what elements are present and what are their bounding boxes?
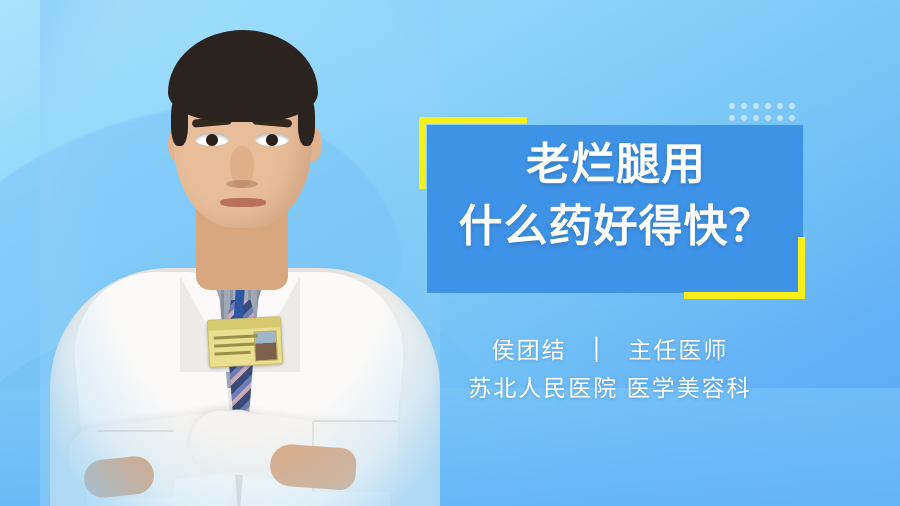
dot xyxy=(765,103,771,109)
doctor-name: 侯团结 xyxy=(492,337,567,363)
separator-bar: 丨 xyxy=(585,328,610,371)
doctor-name-and-title-row: 侯团结 丨 主任医师 xyxy=(400,332,820,368)
badge-text-line xyxy=(214,334,258,339)
dot xyxy=(741,115,747,121)
badge-header xyxy=(208,317,280,331)
title-text-block: 老烂腿用 什么药好得快？ xyxy=(427,134,803,258)
dot xyxy=(765,115,771,121)
dot xyxy=(741,103,747,109)
mouth xyxy=(220,198,266,207)
eye-right xyxy=(255,133,289,146)
badge-text-line xyxy=(214,343,254,348)
eye-left xyxy=(195,133,229,146)
video-thumbnail: 老烂腿用 什么药好得快？ 侯团结 丨 主任医师 苏北人民医院 医学美容科 xyxy=(0,0,900,506)
title-line-2: 什么药好得快？ xyxy=(427,196,803,258)
dot xyxy=(753,115,759,121)
pupil-right xyxy=(266,134,278,146)
dot xyxy=(789,103,795,109)
dot xyxy=(777,103,783,109)
hand-right xyxy=(269,443,358,491)
dot xyxy=(777,115,783,121)
doctor-professional-title: 主任医师 xyxy=(628,337,728,363)
badge-text-line xyxy=(215,351,251,356)
nostrils xyxy=(226,180,258,188)
hair xyxy=(168,30,318,122)
doctor-credentials-block: 侯团结 丨 主任医师 苏北人民医院 医学美容科 xyxy=(400,332,820,408)
title-line-1: 老烂腿用 xyxy=(427,134,803,196)
doctor-portrait-photo xyxy=(40,0,440,506)
dot xyxy=(753,103,759,109)
pupil-left xyxy=(206,134,218,146)
dot xyxy=(789,115,795,121)
dot xyxy=(729,103,735,109)
dot xyxy=(729,115,735,121)
hospital-id-badge xyxy=(207,316,283,368)
hospital-and-department: 苏北人民医院 医学美容科 xyxy=(400,368,820,408)
